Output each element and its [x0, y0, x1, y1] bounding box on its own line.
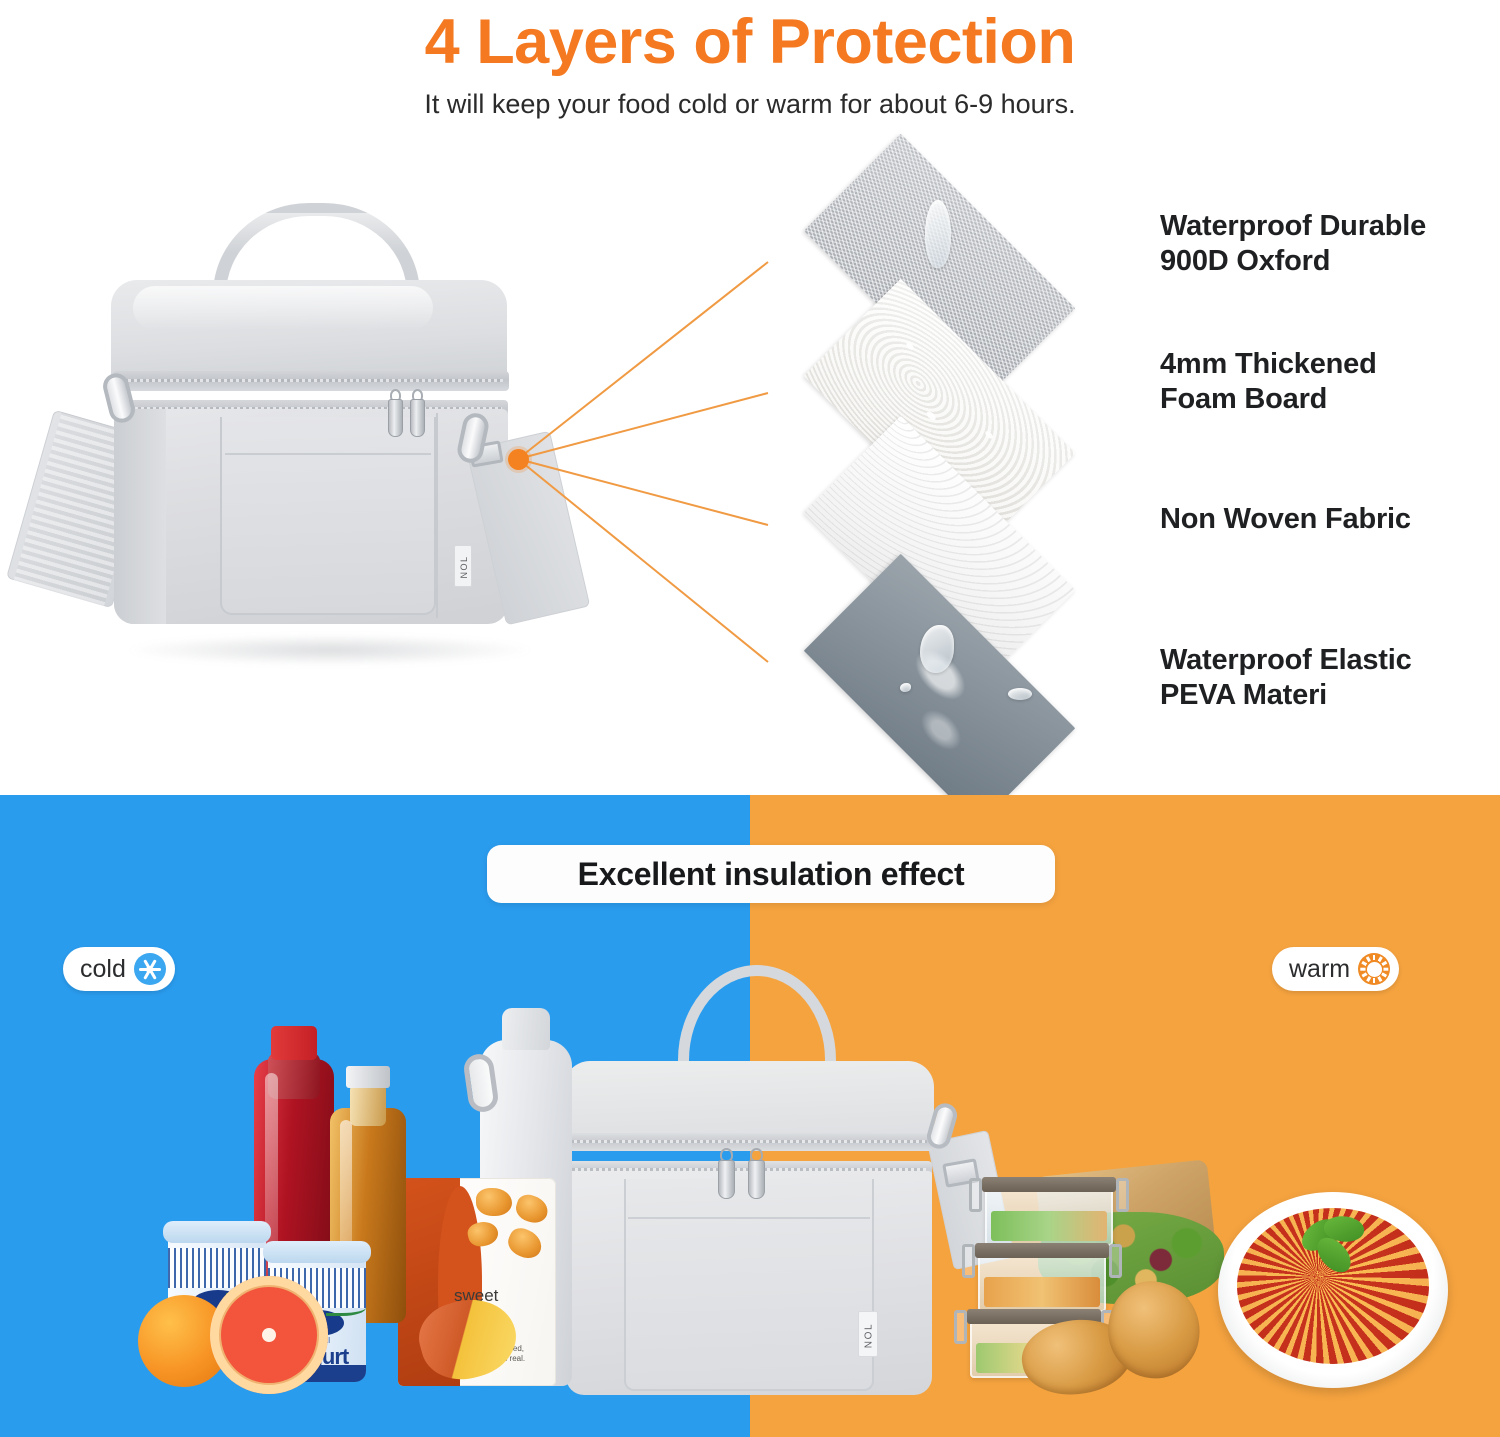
layer-label-oxford: Waterproof Durable 900D Oxford — [1160, 209, 1490, 280]
layer-label-oxford-line1: Waterproof Durable — [1160, 209, 1490, 244]
insulation-banner: Excellent insulation effect — [487, 845, 1055, 903]
water-droplet-wide-icon — [1008, 688, 1032, 700]
lunch-bag-illustration: NOL — [70, 195, 630, 695]
cold-badge: cold — [63, 947, 175, 991]
cold-badge-label: cold — [80, 955, 126, 984]
bag-pocket-seam — [225, 453, 431, 455]
lunch-bag-illustration-bottom: NOL — [520, 965, 990, 1405]
page-subtitle: It will keep your food cold or warm for … — [0, 89, 1500, 120]
layer-hotspot-marker — [508, 449, 529, 470]
layer-label-peva-line1: Waterproof Elastic — [1160, 643, 1490, 678]
bag-side-panel — [114, 409, 166, 624]
spaghetti-plate — [1218, 1192, 1448, 1388]
zipper-pull-right — [410, 391, 425, 437]
warm-badge-label: warm — [1289, 955, 1350, 984]
warm-badge: warm — [1272, 947, 1399, 991]
bag2-brand-tag-text: NOL — [864, 1316, 875, 1356]
layers-section: 4 Layers of Protection It will keep your… — [0, 0, 1500, 795]
basil-leaves — [1300, 1216, 1366, 1274]
glass-container-1 — [985, 1186, 1113, 1246]
page-title: 4 Layers of Protection — [0, 6, 1500, 78]
bag-zipper-upper — [113, 371, 509, 391]
sun-icon — [1358, 953, 1390, 985]
brand-tag-text: NOL — [459, 549, 469, 585]
brand-tag: NOL — [454, 545, 472, 587]
layer-label-peva: Waterproof Elastic PEVA Materi — [1160, 643, 1490, 714]
snowflake-icon — [134, 953, 166, 985]
layer-label-oxford-line2: 900D Oxford — [1160, 244, 1490, 279]
bag2-front-pocket — [624, 1179, 874, 1391]
bag2-brand-tag: NOL — [858, 1311, 878, 1357]
layer-label-nonwoven: Non Woven Fabric — [1160, 502, 1490, 537]
water-droplet-oxford-icon — [925, 200, 951, 268]
bag-front-pocket — [220, 417, 436, 615]
layer-label-peva-line2: PEVA Materi — [1160, 678, 1490, 713]
bag2-pocket-seam — [628, 1217, 870, 1219]
bag2-zipper-pull-left — [718, 1151, 735, 1199]
bag2-zipper-upper — [565, 1133, 933, 1151]
bag-right-seam — [436, 413, 438, 618]
layer-label-foam: 4mm Thickened Foam Board — [1160, 347, 1490, 418]
layer-label-foam-line1: 4mm Thickened — [1160, 347, 1490, 382]
layer-label-nonwoven-line1: Non Woven Fabric — [1160, 502, 1490, 537]
glass-container-2 — [978, 1252, 1106, 1312]
bag-shadow — [130, 635, 530, 665]
layer-label-foam-line2: Foam Board — [1160, 382, 1490, 417]
zipper-pull-left — [388, 391, 403, 437]
bag2-zipper-pull-right — [748, 1151, 765, 1199]
grapefruit-half — [210, 1276, 328, 1394]
bag2-carry-handle — [678, 965, 836, 1073]
